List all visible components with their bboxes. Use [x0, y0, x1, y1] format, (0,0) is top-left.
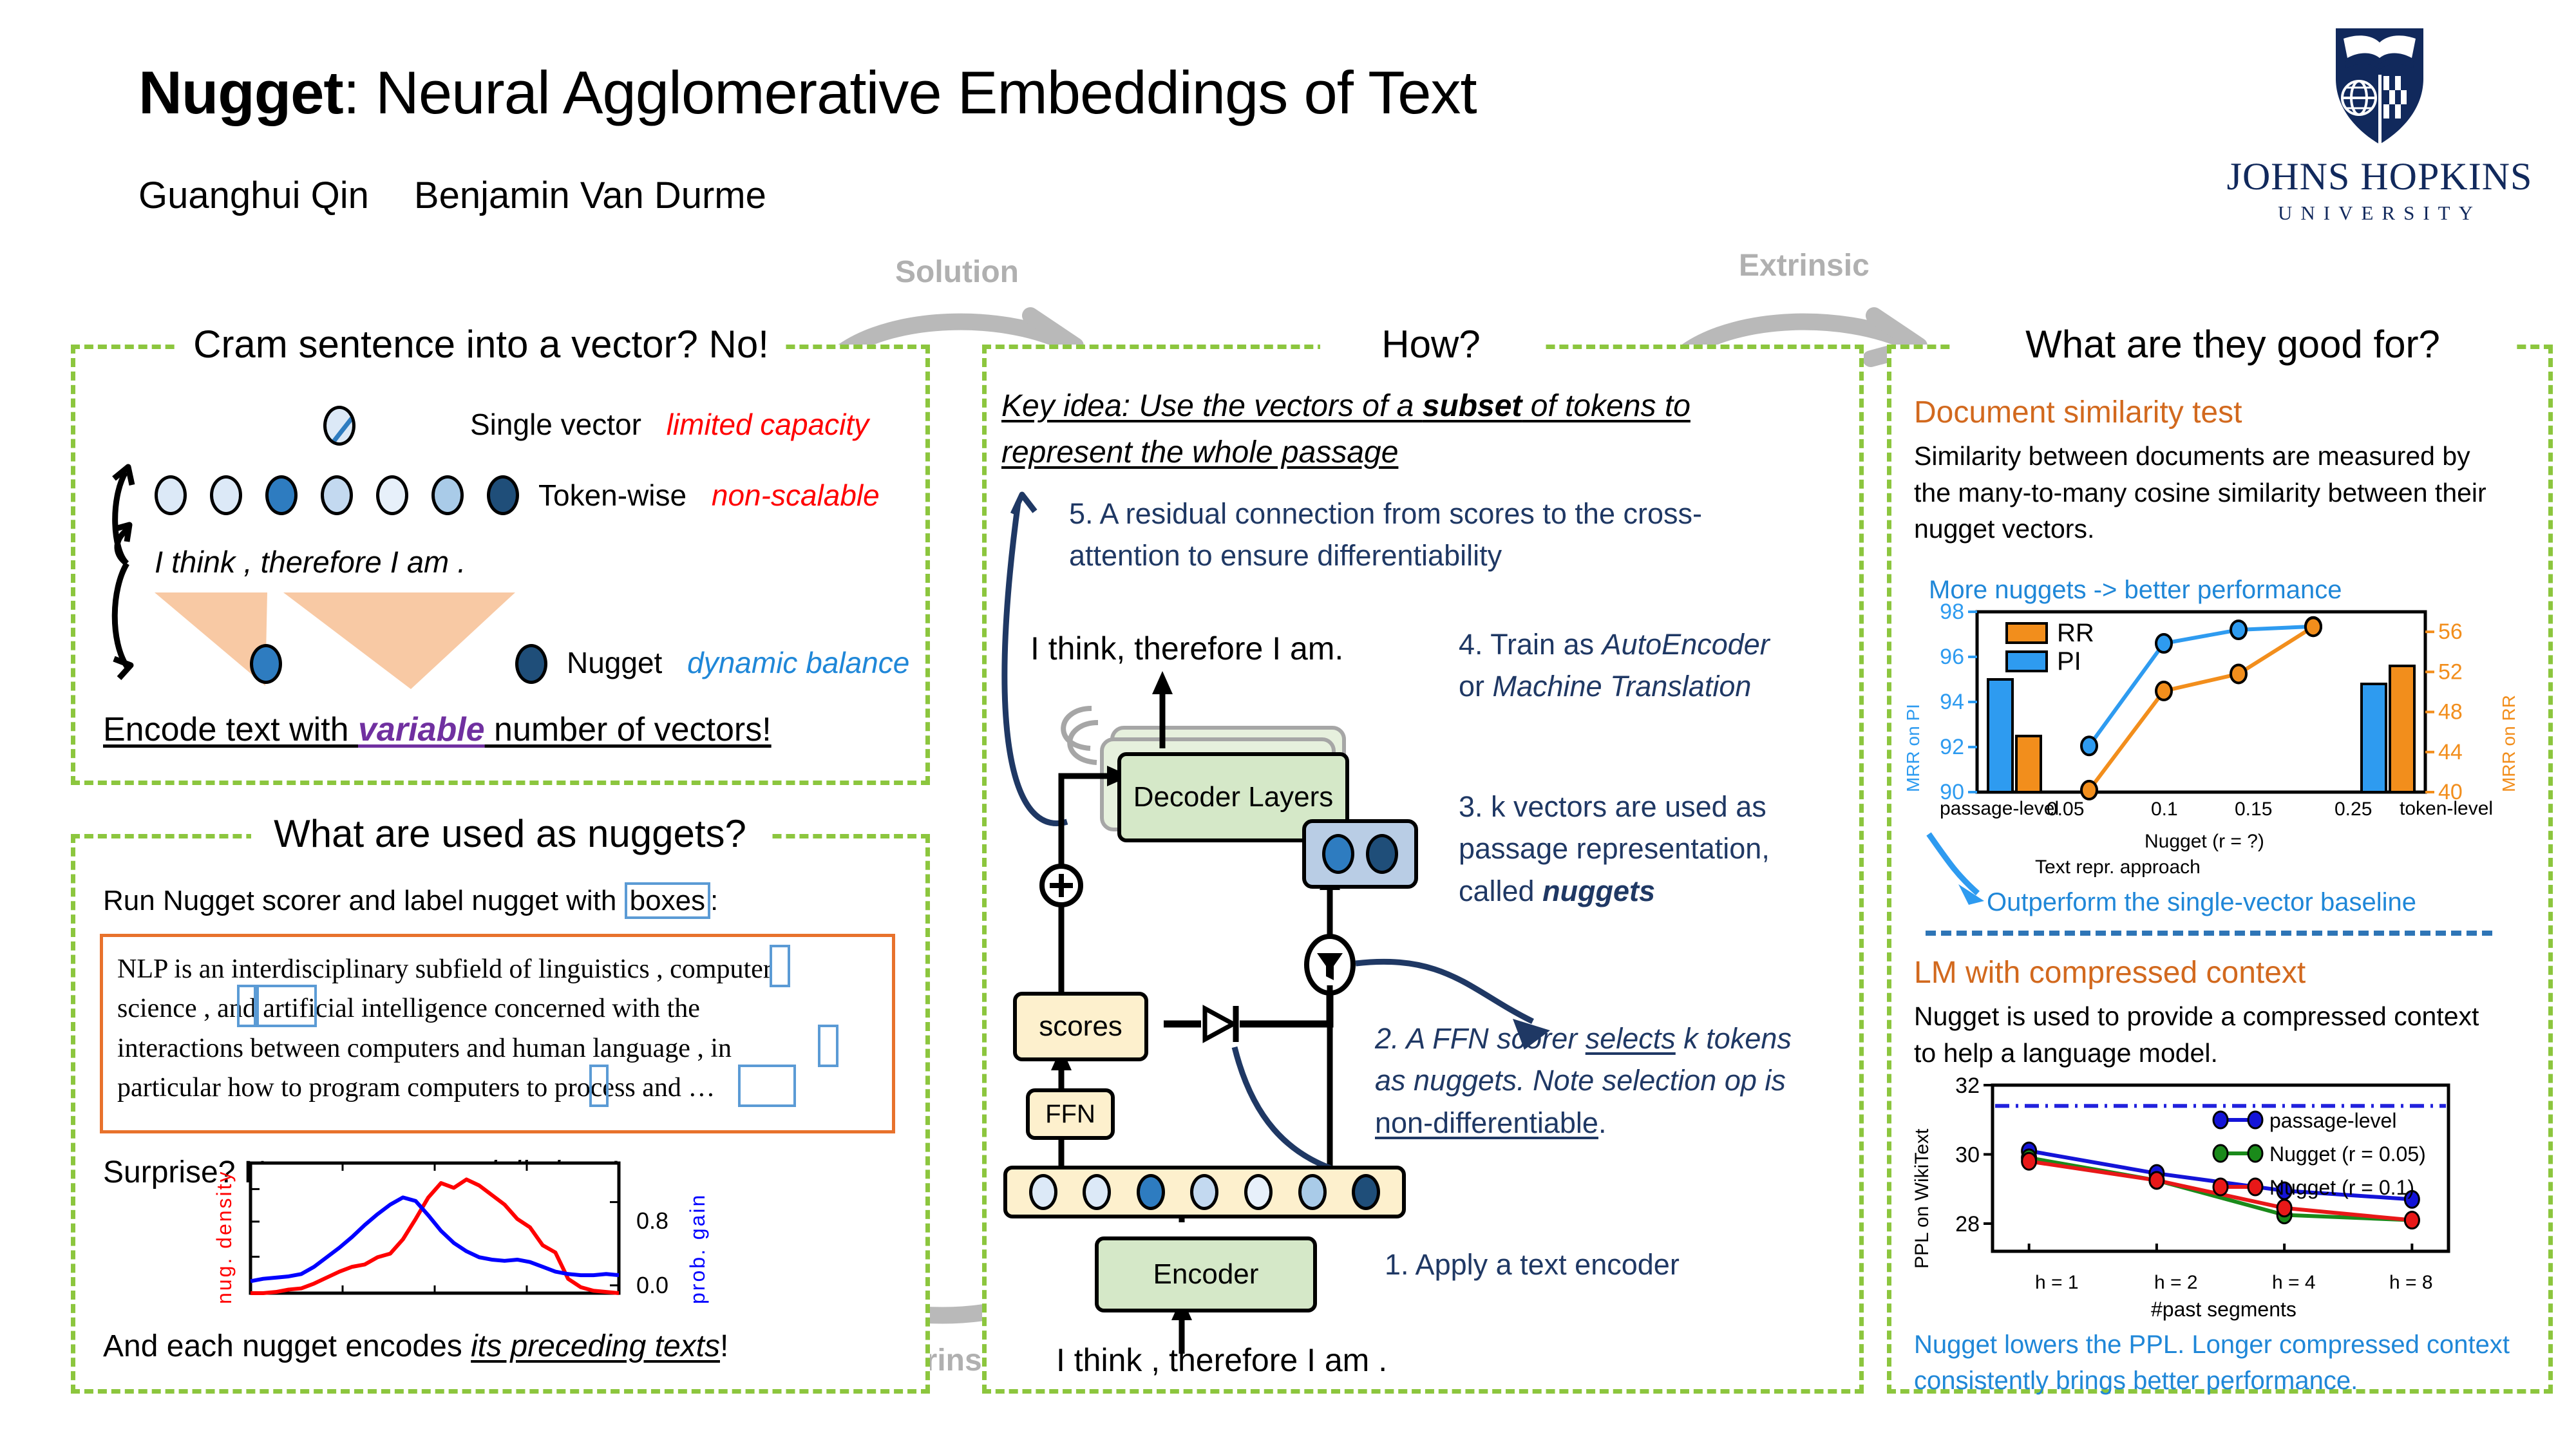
bar-xtick-passage: passage-level	[1940, 799, 2023, 819]
nugget-density-chart	[241, 1158, 628, 1300]
nugget-vector-2	[1366, 834, 1398, 874]
panel-how-title: How?	[1320, 322, 1542, 366]
ppl-xtick-h8: h = 8	[2389, 1272, 2433, 1294]
density-chart-ylabel-left: nug. density	[213, 1156, 236, 1304]
nugget-vector-1	[1322, 834, 1354, 874]
nugget-span-triangles-icon	[155, 592, 618, 696]
jhu-logo: JOHNS HOPKINS UNIVERSITY	[2225, 26, 2534, 219]
encoder-token-3	[1137, 1174, 1165, 1210]
nugget-tag: dynamic balance	[687, 646, 909, 679]
scores-node: scores	[1013, 992, 1148, 1061]
svg-text:44: 44	[2438, 740, 2463, 764]
ppl-chart-ylabel: PPL on WikiText	[1911, 1082, 1933, 1269]
step-4-b: AutoEncoder	[1602, 628, 1770, 661]
title-bold: Nugget	[138, 59, 343, 126]
passage-line-3: interactions between computers and human…	[117, 1029, 884, 1068]
cram-footer-a: Encode text with	[103, 711, 358, 748]
key-idea-a: Key idea: Use the vectors of a	[1001, 389, 1423, 423]
svg-text:30: 30	[1955, 1143, 1980, 1168]
svg-text:28: 28	[1955, 1212, 1980, 1236]
density-tick-08: 0.8	[636, 1207, 668, 1235]
nugget-passage-box: NLP is an interdisciplinary subfield of …	[100, 934, 895, 1133]
svg-text:passage-level: passage-level	[2269, 1109, 2396, 1132]
delimiter-box-3	[254, 985, 317, 1027]
bar-xtick-token: token-level	[2400, 799, 2477, 819]
author-1: Guanghui Qin	[138, 175, 369, 216]
tokenwise-token-3	[265, 475, 298, 515]
svg-text:Nugget (r = 0.1): Nugget (r = 0.1)	[2269, 1176, 2414, 1199]
tokenwise-row-text: Token-wise non-scalable	[538, 477, 880, 515]
nuggets-vector-box	[1302, 819, 1418, 889]
lm-context-caption: Nugget lowers the PPL. Longer compressed…	[1914, 1327, 2513, 1399]
ffn-label: FFN	[1045, 1101, 1095, 1128]
nugget-token-2	[515, 644, 547, 684]
tokenwise-label: Token-wise	[538, 478, 687, 512]
encoder-token-5	[1244, 1174, 1273, 1210]
tokenwise-token-2	[210, 475, 242, 515]
closing-c: !	[720, 1329, 728, 1363]
svg-text:98: 98	[1940, 600, 1964, 624]
bar-xlabel-mid: Nugget (r = ?)	[2145, 831, 2264, 853]
encoder-node: Encoder	[1095, 1236, 1317, 1312]
panel-good-title: What are they good for?	[1951, 322, 2514, 366]
bar-xtick-025: 0.25	[2334, 799, 2372, 820]
encoder-token-1	[1029, 1174, 1057, 1210]
section-divider	[1926, 931, 2492, 936]
doc-similarity-body: Similarity between documents are measure…	[1914, 438, 2506, 547]
instruction-boxes-word: boxes	[625, 882, 710, 919]
cram-footer: Encode text with variable number of vect…	[103, 708, 772, 752]
tokenwise-token-7	[487, 475, 519, 515]
svg-text:48: 48	[2438, 700, 2463, 724]
author-2: Benjamin Van Durme	[414, 175, 766, 216]
lm-context-body: Nugget is used to provide a compressed c…	[1914, 998, 2506, 1071]
encoder-label: Encoder	[1153, 1260, 1259, 1289]
connector-label-solution: Solution	[895, 254, 1019, 290]
key-idea-text: Key idea: Use the vectors of a subset of…	[1001, 383, 1794, 476]
bar-xlabel: Text repr. approach	[2035, 857, 2201, 878]
doc-similarity-caption: Outperform the single-vector baseline	[1987, 885, 2416, 919]
closing-b: its preceding texts	[471, 1329, 720, 1363]
nugget-label: Nugget	[567, 646, 662, 679]
nugget-token-1	[250, 644, 282, 684]
svg-text:52: 52	[2438, 659, 2463, 684]
encoder-token-6	[1298, 1174, 1327, 1210]
ppl-wikitext-chart: 283032passage-levelNugget (r = 0.05)Nugg…	[1951, 1079, 2460, 1272]
single-vector-tag: limited capacity	[667, 408, 869, 441]
nugget-scorer-instruction: Run Nugget scorer and label nugget with …	[103, 882, 718, 919]
lm-context-heading: LM with compressed context	[1914, 953, 2306, 993]
logo-wordmark-line1: JOHNS HOPKINS	[2225, 155, 2534, 199]
delimiter-box-1	[770, 945, 790, 987]
panel-nuggets-title: What are used as nuggets?	[251, 811, 769, 856]
logo-wordmark-line2: UNIVERSITY	[2225, 202, 2534, 225]
svg-text:92: 92	[1940, 735, 1964, 759]
connector-label-extrinsic: Extrinsic	[1739, 248, 1870, 283]
density-tick-00: 0.0	[636, 1272, 668, 1299]
closing-text: And each nugget encodes its preceding te…	[103, 1327, 728, 1367]
closing-a: And each nugget encodes	[103, 1329, 471, 1363]
svg-text:94: 94	[1940, 690, 1964, 714]
ppl-xtick-h4: h = 4	[2272, 1272, 2316, 1294]
delimiter-box-5	[589, 1065, 609, 1107]
single-vector-label: Single vector	[470, 408, 641, 441]
ppl-xtick-h2: h = 2	[2154, 1272, 2198, 1294]
bar-chart-ylabel-left: MRR on PI	[1903, 612, 1924, 792]
passage-line-1: NLP is an interdisciplinary subfield of …	[117, 950, 884, 989]
svg-text:32: 32	[1955, 1074, 1980, 1098]
svg-text:PI: PI	[2057, 647, 2081, 676]
density-chart-ylabel-right: prob. gain	[686, 1156, 710, 1304]
svg-text:56: 56	[2438, 620, 2463, 644]
encoder-token-2	[1083, 1174, 1111, 1210]
cram-footer-c: number of vectors!	[485, 711, 772, 748]
tokenwise-tag: non-scalable	[712, 478, 880, 512]
more-nuggets-chart-title: More nuggets -> better performance	[1929, 573, 2342, 607]
bar-xtick-015: 0.15	[2235, 799, 2272, 820]
more-nuggets-chart: 90929496984044485256RRPI	[1944, 605, 2459, 799]
panel-cram-title: Cram sentence into a vector? No!	[177, 322, 785, 366]
single-vector-token	[323, 406, 355, 446]
nugget-row-text: Nugget dynamic balance	[567, 644, 909, 683]
decoder-layers-label: Decoder Layers	[1133, 782, 1334, 812]
step-4-a: 4. Train as	[1459, 628, 1602, 661]
tokenwise-token-5	[376, 475, 408, 515]
tokenwise-token-1	[155, 475, 187, 515]
jhu-shield-icon	[2225, 26, 2534, 161]
encoder-token-strip	[1003, 1166, 1406, 1218]
tokenwise-token-4	[321, 475, 353, 515]
svg-text:Nugget (r = 0.05): Nugget (r = 0.05)	[2269, 1142, 2426, 1166]
ppl-xlabel: #past segments	[2151, 1298, 2297, 1321]
ppl-xtick-h1: h = 1	[2035, 1272, 2079, 1294]
title-rest: : Neural Agglomerative Embeddings of Tex…	[343, 59, 1477, 126]
encoder-token-4	[1190, 1174, 1218, 1210]
delimiter-box-6	[738, 1065, 796, 1107]
passage-line-2: science , and artificial intelligence co…	[117, 989, 884, 1028]
step-5-text: 5. A residual connection from scores to …	[1069, 493, 1777, 577]
bar-xtick-01: 0.1	[2151, 799, 2178, 820]
author-list: Guanghui QinBenjamin Van Durme	[138, 174, 766, 217]
caption-arrow-icon	[1922, 834, 2012, 905]
instruction-text-b: :	[710, 885, 718, 916]
encoder-token-7	[1352, 1174, 1380, 1210]
ffn-node: FFN	[1026, 1088, 1115, 1140]
tokenwise-token-6	[431, 475, 464, 515]
svg-text:RR: RR	[2057, 619, 2094, 647]
page-title: Nugget: Neural Agglomerative Embeddings …	[138, 58, 1477, 128]
scores-label: scores	[1039, 1012, 1122, 1041]
encoder-input-sentence: I think , therefore I am .	[1056, 1340, 1387, 1381]
delimiter-box-4	[818, 1025, 838, 1067]
doc-similarity-heading: Document similarity test	[1914, 393, 2242, 433]
bar-chart-ylabel-right: MRR on RR	[2499, 612, 2519, 792]
instruction-text-a: Run Nugget scorer and label nugget with	[103, 885, 625, 916]
cram-sentence: I think , therefore I am .	[155, 542, 466, 582]
cram-footer-b: variable	[358, 711, 485, 748]
svg-text:96: 96	[1940, 645, 1964, 669]
single-vector-row: Single vector limited capacity	[470, 406, 869, 444]
key-idea-b: subset	[1423, 389, 1522, 423]
